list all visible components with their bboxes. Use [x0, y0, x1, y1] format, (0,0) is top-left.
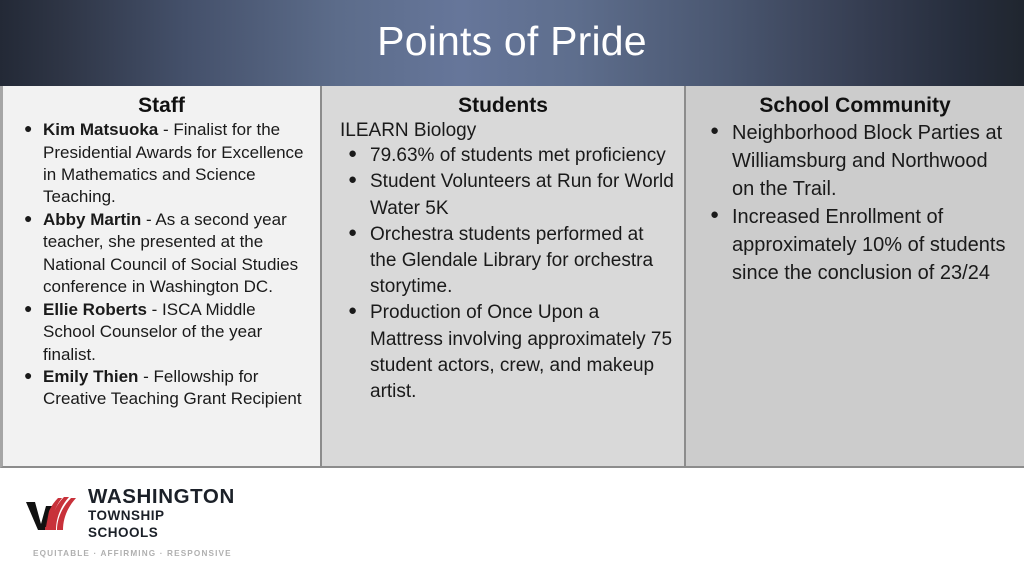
list-item: ● Ellie Roberts - ISCA Middle School Cou…: [13, 299, 310, 366]
column-school-community: School Community ● Neighborhood Block Pa…: [686, 86, 1024, 468]
bullet-dot-icon: ●: [710, 204, 719, 225]
logo-wordmark: WASHINGTON TOWNSHIP SCHOOLS: [88, 487, 235, 542]
students-lead-line: ILEARN Biology: [340, 119, 674, 143]
list-item: ● Production of Once Upon a Mattress inv…: [332, 300, 674, 405]
logo-row: WASHINGTON TOWNSHIP SCHOOLS: [24, 487, 234, 542]
bullet-dot-icon: ●: [710, 120, 719, 141]
bullet-dot-icon: ●: [24, 209, 32, 227]
slide-canvas: Points of Pride Staff ● Kim Matsuoka - F…: [0, 0, 1024, 576]
list-item: ● Abby Martin - As a second year teacher…: [13, 209, 310, 299]
bullet-list-students: ● 79.63% of students met proficiency ● S…: [332, 143, 674, 405]
list-item-lead: Kim Matsuoka: [43, 120, 158, 139]
bullet-dot-icon: ●: [348, 170, 357, 191]
list-item: ● Increased Enrollment of approximately …: [696, 203, 1014, 287]
bullet-dot-icon: ●: [348, 223, 357, 244]
list-item-lead: Abby Martin: [43, 210, 141, 229]
page-title: Points of Pride: [377, 21, 647, 66]
list-item: ● Kim Matsuoka - Finalist for the Presid…: [13, 119, 310, 209]
list-item-text: Increased Enrollment of approximately 10…: [732, 206, 1006, 284]
logo-tagline: EQUITABLE · AFFIRMING · RESPONSIVE: [33, 549, 234, 558]
list-item: ● 79.63% of students met proficiency: [332, 143, 674, 169]
bullet-dot-icon: ●: [24, 119, 32, 137]
bullet-dot-icon: ●: [24, 366, 32, 384]
list-item-lead: Ellie Roberts: [43, 300, 147, 319]
list-item-lead: Emily Thien: [43, 367, 138, 386]
list-item: ● Emily Thien - Fellowship for Creative …: [13, 366, 310, 411]
column-staff: Staff ● Kim Matsuoka - Finalist for the …: [0, 86, 322, 468]
logo-line-township-schools: TOWNSHIP SCHOOLS: [88, 508, 235, 542]
bullet-list-staff: ● Kim Matsuoka - Finalist for the Presid…: [13, 119, 310, 411]
list-item-text: Production of Once Upon a Mattress invol…: [370, 302, 672, 402]
content-columns: Staff ● Kim Matsuoka - Finalist for the …: [0, 86, 1024, 468]
list-item: ● Student Volunteers at Run for World Wa…: [332, 169, 674, 221]
washington-township-w-mark-icon: [24, 494, 80, 534]
list-item-text: Neighborhood Block Parties at Williamsbu…: [732, 122, 1002, 200]
list-item-text: Orchestra students performed at the Glen…: [370, 224, 653, 297]
bullet-list-school-community: ● Neighborhood Block Parties at Williams…: [696, 119, 1014, 287]
slide-title-banner: Points of Pride: [0, 0, 1024, 86]
list-item: ● Neighborhood Block Parties at Williams…: [696, 119, 1014, 203]
column-heading-school-community: School Community: [696, 94, 1014, 118]
bullet-dot-icon: ●: [24, 299, 32, 317]
list-item: ● Orchestra students performed at the Gl…: [332, 222, 674, 301]
column-heading-students: Students: [332, 94, 674, 118]
column-heading-staff: Staff: [13, 94, 310, 118]
bullet-dot-icon: ●: [348, 144, 357, 165]
column-students: Students ILEARN Biology ● 79.63% of stud…: [322, 86, 686, 468]
logo-line-washington: WASHINGTON: [88, 487, 235, 508]
list-item-text: 79.63% of students met proficiency: [370, 145, 666, 166]
list-item-text: Student Volunteers at Run for World Wate…: [370, 171, 674, 218]
district-logo: WASHINGTON TOWNSHIP SCHOOLS EQUITABLE · …: [24, 487, 234, 549]
bullet-dot-icon: ●: [348, 301, 357, 322]
